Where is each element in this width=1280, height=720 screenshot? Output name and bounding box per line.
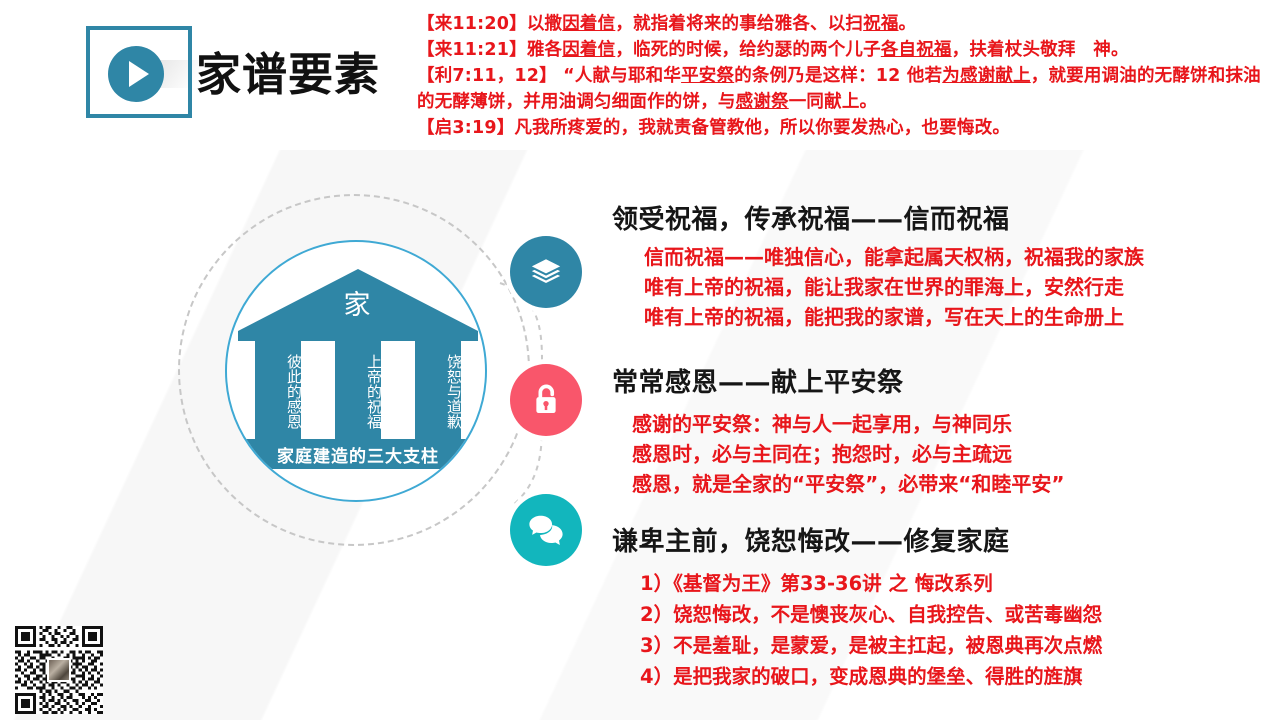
list-item: 感恩时，必与主同在；抱怨时，必与主疏远 <box>632 439 1065 469</box>
layers-glyph <box>529 255 563 289</box>
scripture-line-2: 【来11:21】雅各因着信，临死的时候，给约瑟的两个儿子各自祝福，扶着杖头敬拜 … <box>417 37 1273 63</box>
chat-bubbles-icon[interactable] <box>510 494 582 566</box>
unlock-glyph <box>529 381 563 419</box>
pillar-1: 彼此的感恩 <box>255 341 301 439</box>
chat-bubbles-glyph <box>528 514 564 546</box>
section-repentance: 谦卑主前，饶恕悔改——修复家庭 1）《基督为王》第33-36讲 之 悔改系列 2… <box>612 521 1102 692</box>
temple-roof-label: 家 <box>238 283 478 322</box>
temple-base-label: 家庭建造的三大支柱 <box>238 439 478 469</box>
section-thanksgiving: 常常感恩——献上平安祭 感谢的平安祭：神与人一起享用，与神同乐 感恩时，必与主同… <box>612 362 1065 499</box>
scripture-line-4: 【启3:19】凡我所疼爱的，我就责备管教他，所以你要发热心，也要悔改。 <box>417 115 1273 141</box>
list-item: 唯有上帝的祝福，能把我的家谱，写在天上的生命册上 <box>644 302 1144 332</box>
section-1-list: 信而祝福——唯独信心，能拿起属天权柄，祝福我的家族 唯有上帝的祝福，能让我家在世… <box>612 242 1144 332</box>
play-button-in-frame-icon <box>86 26 192 118</box>
layers-icon[interactable] <box>510 236 582 308</box>
pillar-2: 上帝的祝福 <box>335 341 381 439</box>
temple-pillars: 彼此的感恩 上帝的祝福 饶恕与道歉 <box>238 341 478 439</box>
list-item: 1）《基督为王》第33-36讲 之 悔改系列 <box>640 568 1102 599</box>
list-item: 唯有上帝的祝福，能让我家在世界的罪海上，安然行走 <box>644 272 1144 302</box>
pillar-3: 饶恕与道歉 <box>415 341 461 439</box>
list-item: 2）饶恕悔改，不是懊丧灰心、自我控告、或苦毒幽怨 <box>640 599 1102 630</box>
section-2-heading: 常常感恩——献上平安祭 <box>612 362 1065 399</box>
list-item: 3）不是羞耻，是蒙爱，是被主扛起，被恩典再次点燃 <box>640 630 1102 661</box>
section-blessing: 领受祝福，传承祝福——信而祝福 信而祝福——唯独信心，能拿起属天权柄，祝福我的家… <box>612 199 1144 332</box>
unlock-icon[interactable] <box>510 364 582 436</box>
list-item: 感恩，就是全家的“平安祭”，必带来“和睦平安” <box>632 469 1065 499</box>
inner-circle: 家 彼此的感恩 上帝的祝福 饶恕与道歉 家庭建造的三大支柱 <box>225 240 487 502</box>
temple-graphic: 家 彼此的感恩 上帝的祝福 饶恕与道歉 家庭建造的三大支柱 <box>238 269 478 474</box>
list-item: 感谢的平安祭：神与人一起享用，与神同乐 <box>632 409 1065 439</box>
qr-code[interactable] <box>15 626 103 714</box>
scripture-block: 【来11:20】以撒因着信，就指着将来的事给雅各、以扫祝福。 【来11:21】雅… <box>417 11 1273 141</box>
play-icon <box>108 46 164 102</box>
scripture-line-3: 【利7:11，12】 “人献与耶和华平安祭的条例乃是这样：12 他若为感谢献上，… <box>417 63 1273 115</box>
list-item: 信而祝福——唯独信心，能拿起属天权柄，祝福我的家族 <box>644 242 1144 272</box>
section-3-heading: 谦卑主前，饶恕悔改——修复家庭 <box>612 521 1102 558</box>
temple-entablature <box>238 331 478 341</box>
section-2-list: 感谢的平安祭：神与人一起享用，与神同乐 感恩时，必与主同在；抱怨时，必与主疏远 … <box>612 409 1065 499</box>
section-3-list: 1）《基督为王》第33-36讲 之 悔改系列 2）饶恕悔改，不是懊丧灰心、自我控… <box>612 568 1102 692</box>
page-title: 家谱要素 <box>196 38 380 103</box>
slide-canvas: 家谱要素 【来11:20】以撒因着信，就指着将来的事给雅各、以扫祝福。 【来11… <box>0 0 1280 720</box>
qr-center-logo <box>47 658 71 682</box>
list-item: 4）是把我家的破口，变成恩典的堡垒、得胜的旌旗 <box>640 661 1102 692</box>
section-1-heading: 领受祝福，传承祝福——信而祝福 <box>612 199 1144 236</box>
scripture-line-1: 【来11:20】以撒因着信，就指着将来的事给雅各、以扫祝福。 <box>417 11 1273 37</box>
